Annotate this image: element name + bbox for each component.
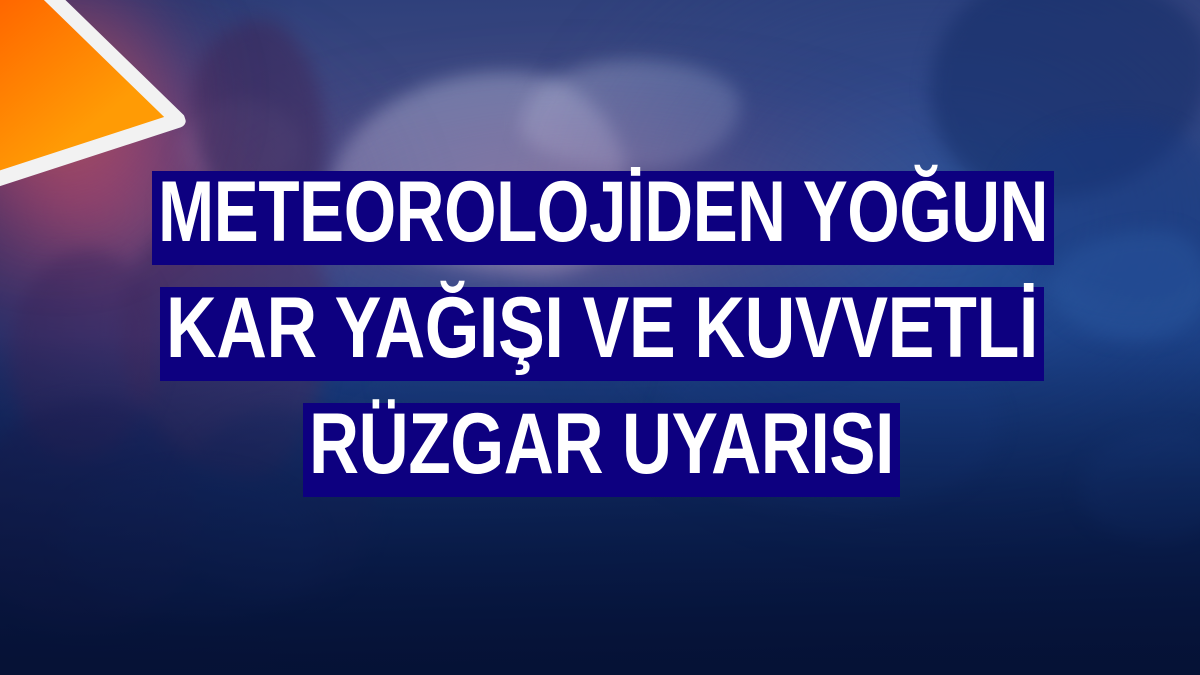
headline-line-1: METEOROLOJİDEN YOĞUN [158, 173, 856, 252]
headline-block: METEOROLOJİDEN YOĞUN KAR YAĞIŞI VE KUVVE… [0, 160, 1200, 508]
headline-line-3-row: RÜZGAR UYARISI [0, 392, 1200, 508]
headline-line-1-highlight: METEOROLOJİDEN YOĞUN [152, 171, 1054, 264]
headline-line-2: KAR YAĞIŞI VE KUVVETLİ [166, 289, 877, 368]
headline-line-2-highlight: KAR YAĞIŞI VE KUVVETLİ [160, 287, 1044, 380]
headline-line-2-row: KAR YAĞIŞI VE KUVVETLİ [0, 276, 1200, 392]
headline-line-3: RÜZGAR UYARISI [309, 405, 781, 484]
headline-line-3-highlight: RÜZGAR UYARISI [303, 403, 900, 496]
headline-line-1-row: METEOROLOJİDEN YOĞUN [0, 160, 1200, 276]
news-banner: METEOROLOJİDEN YOĞUN KAR YAĞIŞI VE KUVVE… [0, 0, 1200, 675]
